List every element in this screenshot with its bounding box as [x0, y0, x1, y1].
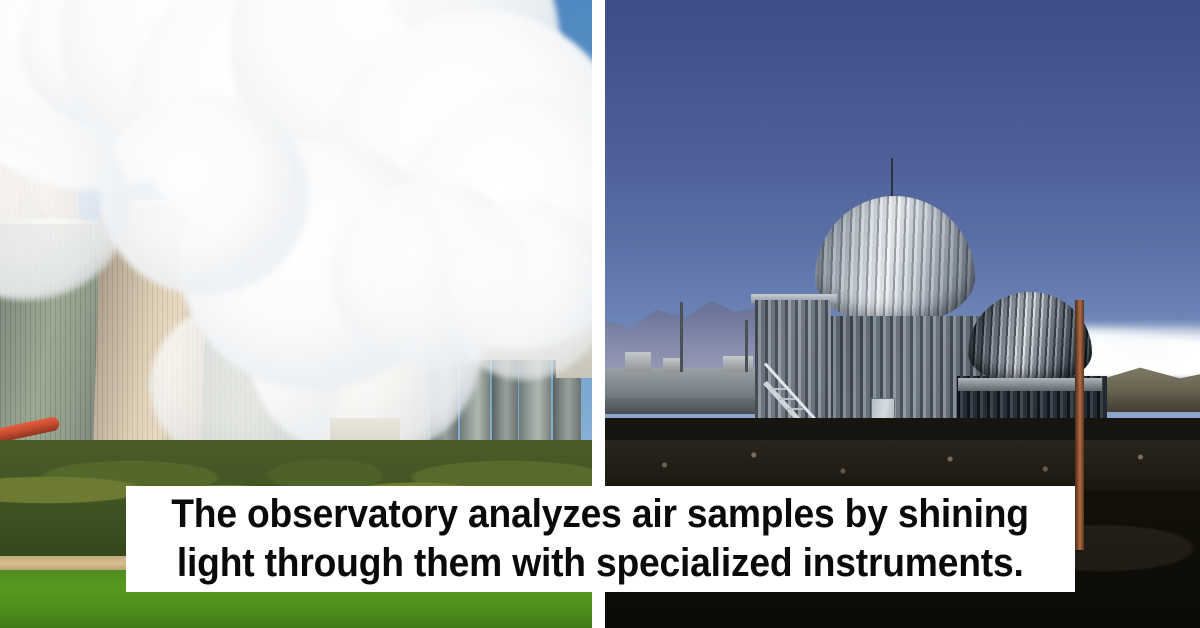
stair-step	[779, 398, 795, 400]
observatory-dome-small	[968, 292, 1092, 384]
rusty-post	[1075, 300, 1084, 550]
observatory-dome-large	[815, 196, 975, 324]
observatory-dome-small-shell	[968, 292, 1092, 384]
caption-line-1: The observatory analyzes air samples by …	[172, 490, 1030, 539]
observatory-dome-large-shell	[815, 196, 975, 324]
caption-line-2: light through them with specialized inst…	[177, 539, 1024, 588]
stair-step	[771, 388, 787, 390]
image-canvas: The observatory analyzes air samples by …	[0, 0, 1200, 628]
caption-bar: The observatory analyzes air samples by …	[126, 486, 1075, 592]
roof-pole-2	[745, 320, 748, 372]
roof-equipment-1	[625, 352, 651, 372]
lightning-rod	[891, 158, 893, 200]
rubble-field	[605, 440, 1200, 490]
stair-step	[787, 408, 803, 410]
roof-pole-1	[680, 302, 683, 372]
roof-equipment-3	[723, 356, 753, 372]
steam-plume-9	[100, 95, 310, 295]
